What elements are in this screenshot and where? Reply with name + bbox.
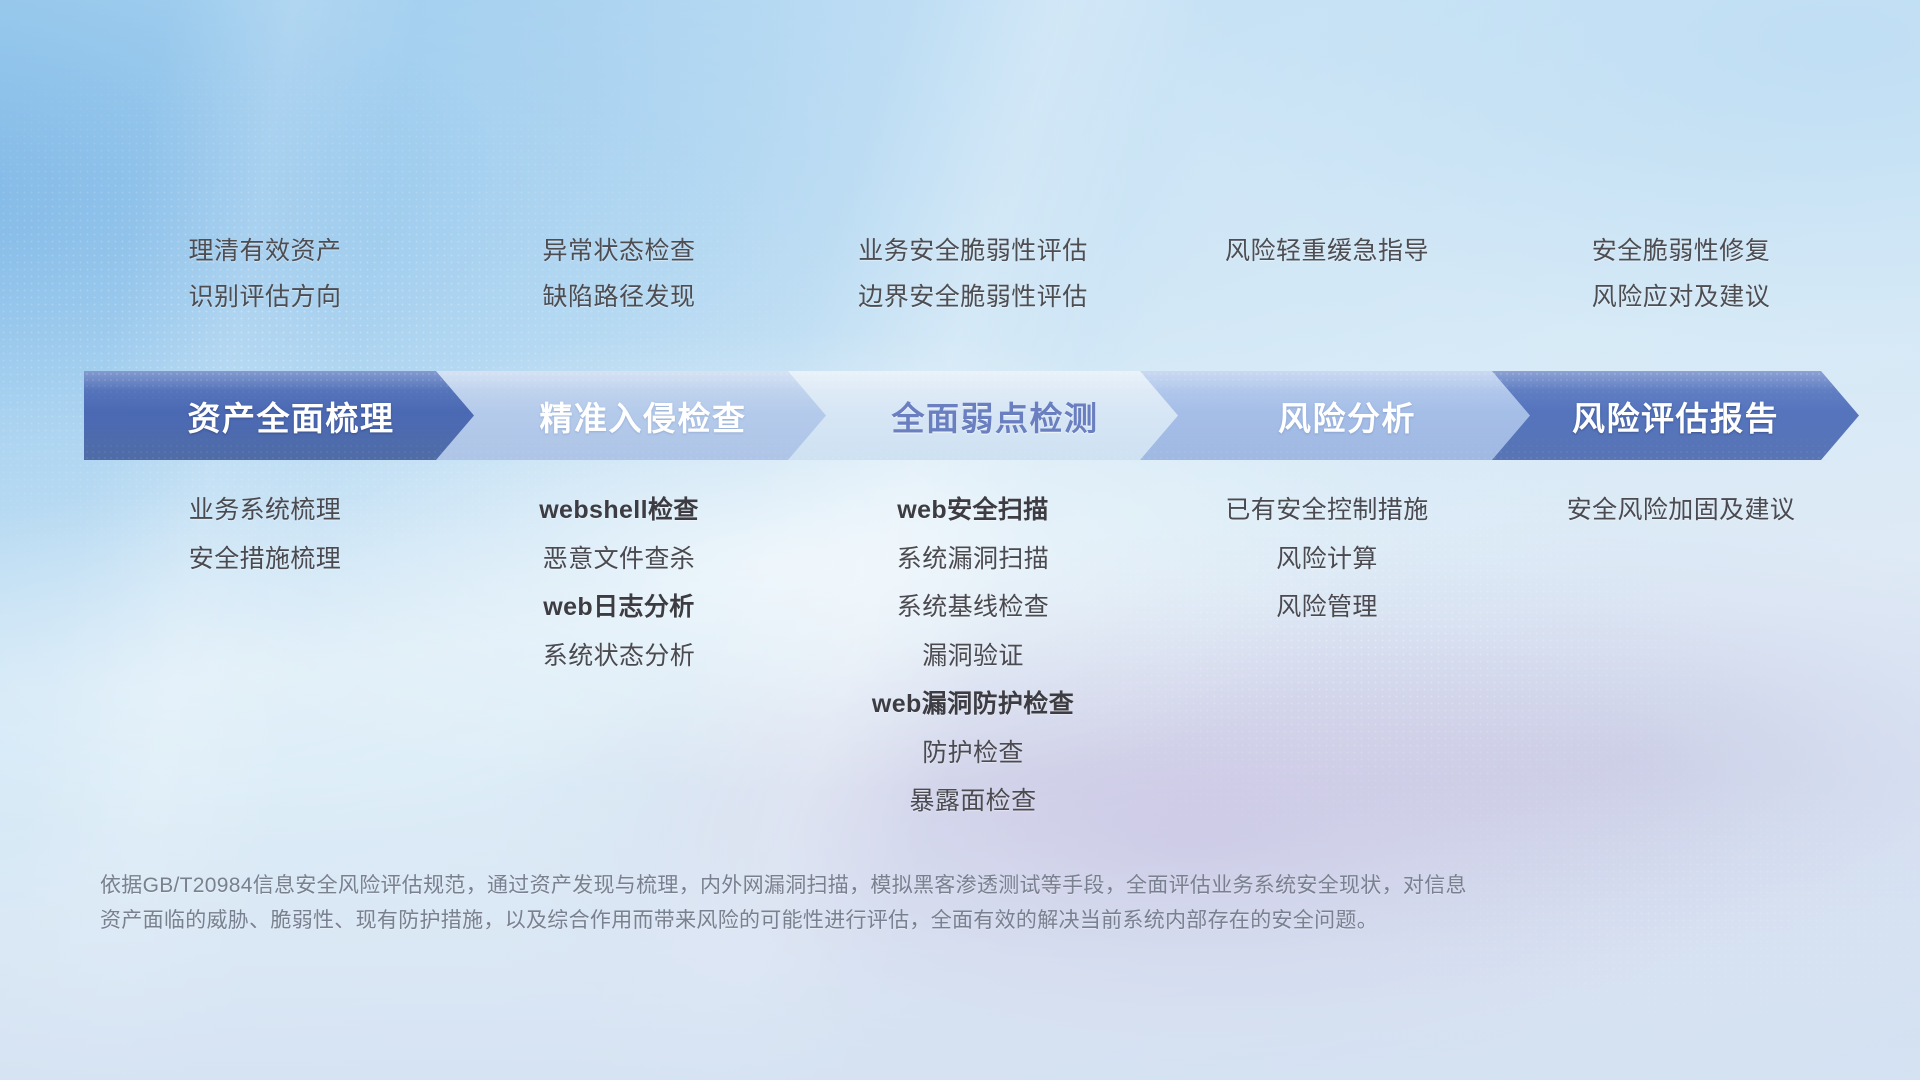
activity-item: 已有安全控制措施 bbox=[1150, 486, 1504, 535]
top-outcomes-row: 理清有效资产 识别评估方向 异常状态检查 缺陷路径发现 业务安全脆弱性评估 边界… bbox=[88, 228, 1858, 336]
footer-description: 依据GB/T20984信息安全风险评估规范，通过资产发现与梳理，内外网漏洞扫描，… bbox=[100, 868, 1720, 938]
chevron-step-label: 资产全面梳理 bbox=[188, 392, 395, 440]
activities-risk-report: 安全风险加固及建议 bbox=[1504, 486, 1858, 535]
activity-item: 风险管理 bbox=[1150, 583, 1504, 632]
process-chevron-banner: 资产全面梳理 精准入侵检查 全面弱点检测 风险分析 风险评估报告 bbox=[84, 371, 1859, 460]
chevron-step-risk-analysis[interactable]: 风险分析 bbox=[1140, 371, 1554, 460]
activity-item: 系统基线检查 bbox=[796, 583, 1150, 632]
activities-risk-analysis: 已有安全控制措施 风险计算 风险管理 bbox=[1150, 486, 1504, 632]
chevron-step-label: 精准入侵检查 bbox=[540, 392, 747, 440]
top-outcome-line: 业务安全脆弱性评估 bbox=[796, 228, 1150, 274]
top-outcomes-risk-analysis: 风险轻重缓急指导 bbox=[1150, 228, 1504, 336]
top-outcome-line: 异常状态检查 bbox=[442, 228, 796, 274]
footer-line: 资产面临的威胁、脆弱性、现有防护措施，以及综合作用而带来风险的可能性进行评估，全… bbox=[100, 903, 1720, 938]
top-outcome-line: 安全脆弱性修复 bbox=[1504, 228, 1858, 274]
activities-weakness-detection: web安全扫描 系统漏洞扫描 系统基线检查 漏洞验证 web漏洞防护检查 防护检… bbox=[796, 486, 1150, 826]
activity-item: 恶意文件查杀 bbox=[442, 535, 796, 584]
activities-intrusion-check: webshell检查 恶意文件查杀 web日志分析 系统状态分析 bbox=[442, 486, 796, 680]
top-outcome-line: 缺陷路径发现 bbox=[442, 274, 796, 320]
chevron-step-label: 风险评估报告 bbox=[1572, 392, 1779, 440]
activity-item: 系统状态分析 bbox=[442, 632, 796, 681]
activity-item: 业务系统梳理 bbox=[88, 486, 442, 535]
chevron-step-intrusion-check[interactable]: 精准入侵检查 bbox=[436, 371, 850, 460]
top-outcome-line: 理清有效资产 bbox=[88, 228, 442, 274]
activity-item: webshell检查 bbox=[442, 486, 796, 535]
activity-item: 暴露面检查 bbox=[796, 777, 1150, 826]
activity-item: 防护检查 bbox=[796, 729, 1150, 778]
activity-item: 安全风险加固及建议 bbox=[1504, 486, 1858, 535]
top-outcomes-asset-inventory: 理清有效资产 识别评估方向 bbox=[88, 228, 442, 336]
activity-item: web日志分析 bbox=[442, 583, 796, 632]
top-outcome-line: 边界安全脆弱性评估 bbox=[796, 274, 1150, 320]
top-outcomes-weakness-detection: 业务安全脆弱性评估 边界安全脆弱性评估 bbox=[796, 228, 1150, 336]
bottom-activities-row: 业务系统梳理 安全措施梳理 webshell检查 恶意文件查杀 web日志分析 … bbox=[88, 486, 1858, 786]
top-outcome-line: 识别评估方向 bbox=[88, 274, 442, 320]
activity-item: 系统漏洞扫描 bbox=[796, 535, 1150, 584]
activity-item: 安全措施梳理 bbox=[88, 535, 442, 584]
slide-canvas: 理清有效资产 识别评估方向 异常状态检查 缺陷路径发现 业务安全脆弱性评估 边界… bbox=[0, 0, 1920, 1080]
activity-item: 风险计算 bbox=[1150, 535, 1504, 584]
chevron-step-label: 风险分析 bbox=[1278, 392, 1416, 440]
chevron-step-weakness-detection[interactable]: 全面弱点检测 bbox=[788, 371, 1202, 460]
footer-line: 依据GB/T20984信息安全风险评估规范，通过资产发现与梳理，内外网漏洞扫描，… bbox=[100, 868, 1720, 903]
activity-item: 漏洞验证 bbox=[796, 632, 1150, 681]
top-outcomes-intrusion-check: 异常状态检查 缺陷路径发现 bbox=[442, 228, 796, 336]
activity-item: web漏洞防护检查 bbox=[796, 680, 1150, 729]
top-outcomes-risk-report: 安全脆弱性修复 风险应对及建议 bbox=[1504, 228, 1858, 336]
activity-item: web安全扫描 bbox=[796, 486, 1150, 535]
top-outcome-line: 风险轻重缓急指导 bbox=[1150, 228, 1504, 274]
activities-asset-inventory: 业务系统梳理 安全措施梳理 bbox=[88, 486, 442, 583]
chevron-step-asset-inventory[interactable]: 资产全面梳理 bbox=[84, 371, 498, 460]
chevron-step-label: 全面弱点检测 bbox=[892, 392, 1099, 440]
top-outcome-line: 风险应对及建议 bbox=[1504, 274, 1858, 320]
chevron-step-risk-report[interactable]: 风险评估报告 bbox=[1492, 371, 1859, 460]
slide-content: 理清有效资产 识别评估方向 异常状态检查 缺陷路径发现 业务安全脆弱性评估 边界… bbox=[0, 0, 1920, 1080]
